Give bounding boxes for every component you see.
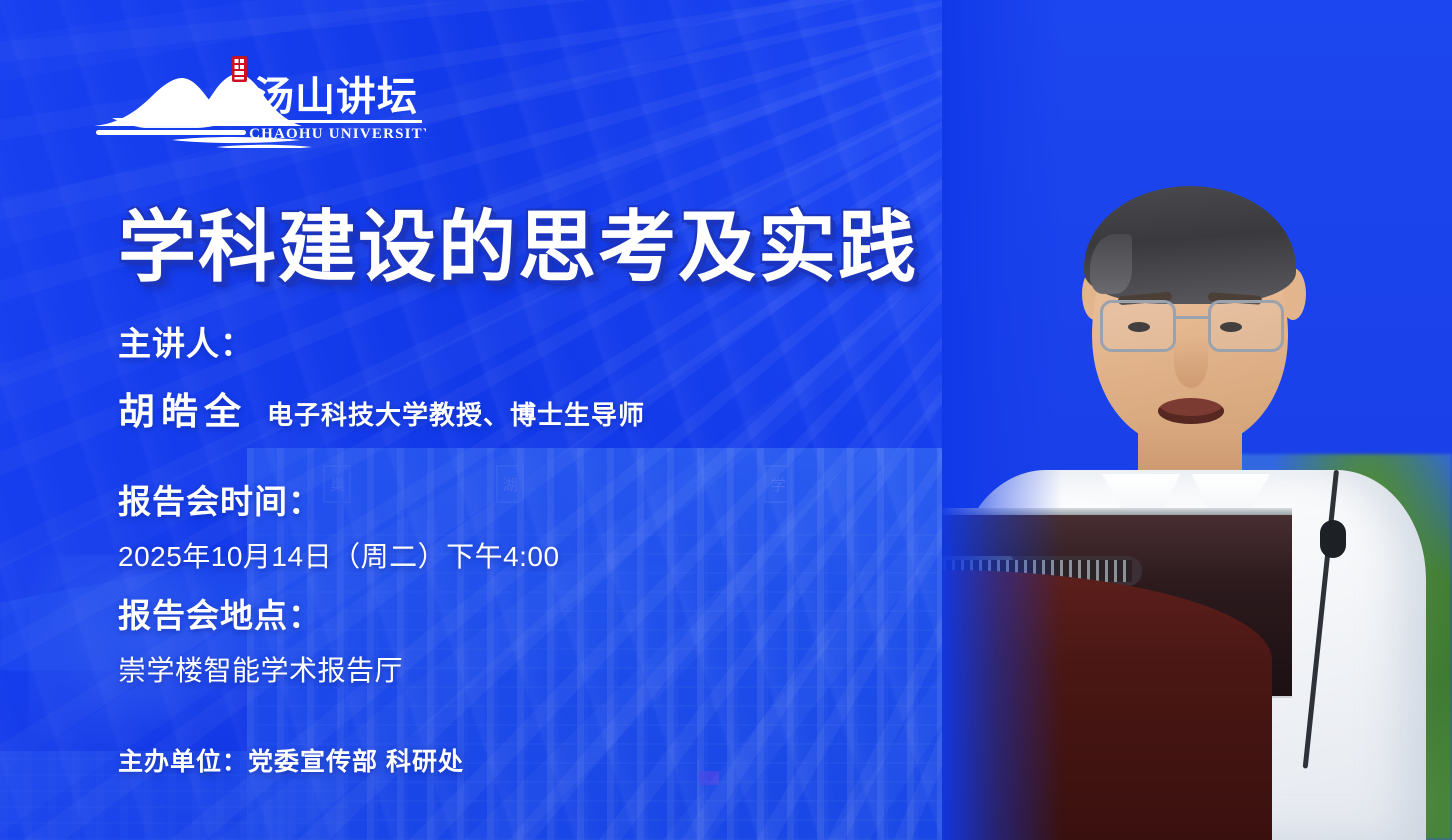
lens-left bbox=[1100, 300, 1176, 352]
mountain-water-logo-icon: 汤山讲坛 CHAOHU UNIVERSITY bbox=[86, 52, 426, 148]
place-section: 报告会地点： 崇学楼智能学术报告厅 bbox=[118, 589, 998, 689]
place-value: 崇学楼智能学术报告厅 bbox=[118, 649, 998, 689]
logo-cn-name: 汤山讲坛 bbox=[254, 74, 418, 120]
speaker-affiliation: 电子科技大学教授、博士生导师 bbox=[267, 395, 645, 432]
microphone-icon bbox=[1320, 520, 1346, 558]
speaker-photo bbox=[942, 0, 1452, 840]
mouth bbox=[1158, 398, 1224, 424]
time-label: 报告会时间： bbox=[118, 475, 998, 523]
time-value: 2025年10月14日（周二）下午4:00 bbox=[118, 535, 998, 575]
logo-en-name: CHAOHU UNIVERSITY bbox=[249, 126, 426, 142]
speaker-label: 主讲人： bbox=[118, 317, 998, 365]
poster-title: 学科建设的思考及实践 bbox=[118, 205, 998, 291]
time-section: 报告会时间： 2025年10月14日（周二）下午4:00 bbox=[118, 475, 998, 575]
glasses-bridge bbox=[1176, 316, 1208, 319]
chaohu-university-logo: 汤山讲坛 CHAOHU UNIVERSITY bbox=[86, 52, 426, 148]
speaker-name: 胡皓全 bbox=[118, 381, 247, 435]
organizer-text: 主办单位：党委宣传部 科研处 bbox=[118, 742, 464, 778]
place-label: 报告会地点： bbox=[118, 589, 998, 637]
nose bbox=[1174, 336, 1208, 388]
poster-content: 学科建设的思考及实践 主讲人： 胡皓全 电子科技大学教授、博士生导师 报告会时间… bbox=[118, 205, 998, 689]
lecture-poster: 巢 湖 学 院 bbox=[0, 0, 1452, 840]
lens-right bbox=[1208, 300, 1284, 352]
speaker-row: 胡皓全 电子科技大学教授、博士生导师 bbox=[118, 381, 998, 435]
